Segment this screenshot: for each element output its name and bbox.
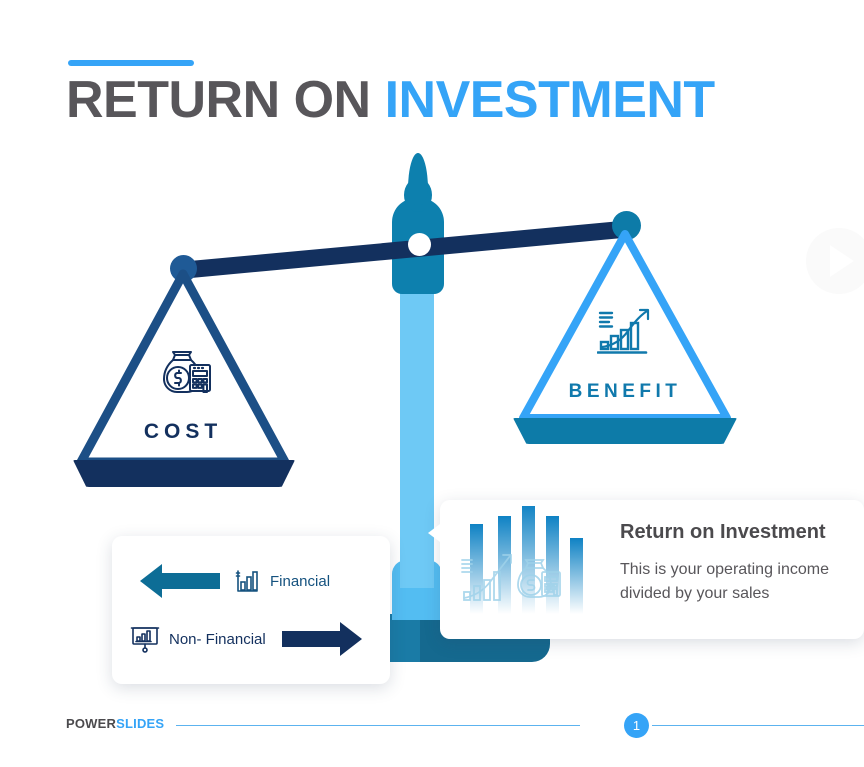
row-financial[interactable]: Financial [140,562,370,600]
page-title: RETURN ON INVESTMENT [66,70,826,130]
cost-label: COST [75,420,291,444]
arrow-label-financial: Financial [270,573,330,590]
slide-canvas: RETURN ON INVESTMENT [0,0,864,767]
row-non-financial[interactable]: Non- Financial [130,620,380,658]
scale-pivot [408,233,431,256]
arrow-left-icon[interactable] [140,562,220,600]
info-card-title: Return on Investment [620,519,860,545]
footer-logo: POWERSLIDES [66,716,164,731]
benefit-label: BENEFIT [517,381,733,403]
benefit-pan [513,418,737,444]
arrows-card[interactable] [112,536,390,684]
page-title-main: RETURN ON [66,71,385,129]
footer-logo-main: POWER [66,716,116,731]
footer-page-number: 1 [624,713,649,738]
growth-bar-chart-arrow-icon [597,305,655,357]
info-card-body: This is your operating income divided by… [620,558,850,606]
money-bag-calculator-icon [160,348,212,396]
cost-pan [73,460,295,487]
page-title-highlight: INVESTMENT [385,71,715,129]
arrow-label-non-financial: Non- Financial [169,631,266,648]
arrow-right-icon[interactable] [282,620,362,658]
scale-finial-tip [408,153,428,205]
play-button-icon [806,228,864,294]
footer-line-right [652,725,864,726]
info-card-tail [428,521,444,545]
footer-logo-highlight: SLIDES [116,716,164,731]
dollar-bar-chart-icon [234,568,260,594]
play-triangle-icon [830,245,854,277]
footer-line-left [176,725,580,726]
presentation-board-icon [130,624,160,654]
bar-chart-money-bag-watermark-icon [460,506,598,626]
title-accent-bar [68,60,194,66]
